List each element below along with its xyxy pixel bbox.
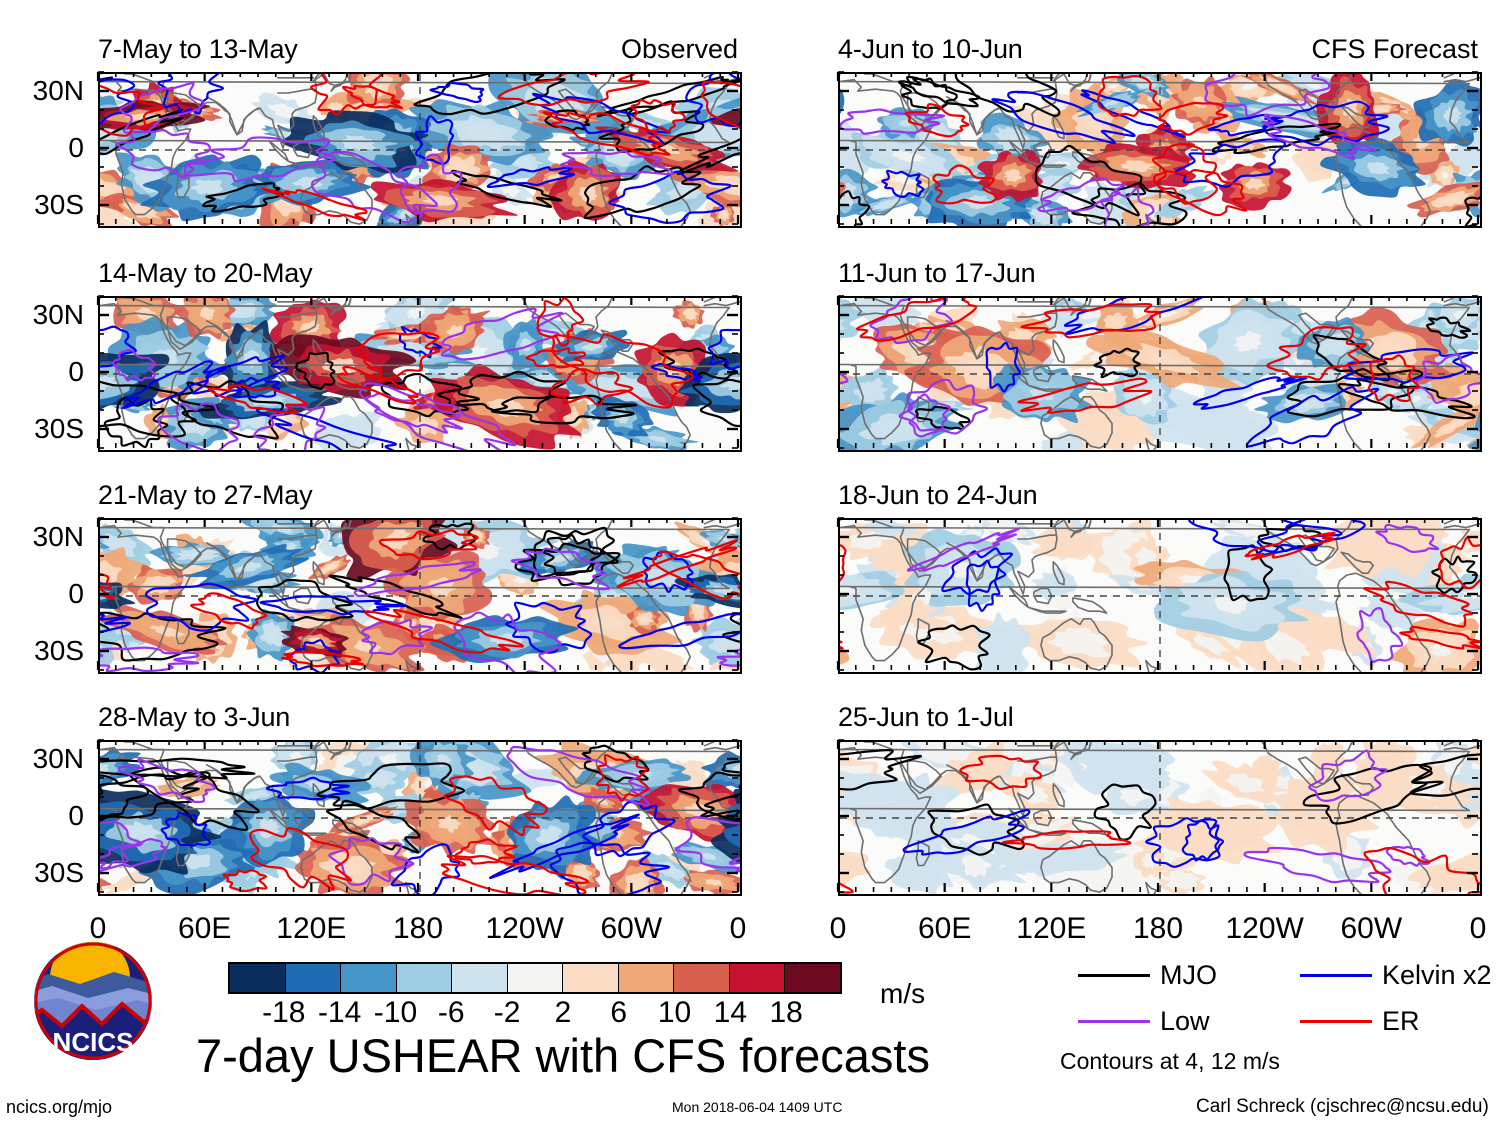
y-tick-label-30S: 30S (0, 859, 84, 887)
footer-timestamp: Mon 2018-06-04 1409 UTC (672, 1100, 842, 1114)
x-axis-right: 060E120E180120W60W0 (838, 914, 1478, 954)
y-tick-label-30S: 30S (0, 415, 84, 443)
kelvin-line-swatch (1300, 974, 1372, 977)
map-plot-p4[interactable] (98, 740, 742, 896)
colorbar-tick-9: 18 (769, 998, 802, 1028)
colorbar-swatch-10 (784, 964, 840, 992)
panel-title-p2: 14-May to 20-May (98, 260, 312, 287)
logo-label: NCICS (53, 1027, 134, 1057)
panel-p8: 25-Jun to 1-Jul (838, 706, 1478, 892)
y-tick-label-0: 0 (0, 134, 84, 162)
y-tick-label-0: 0 (0, 580, 84, 608)
y-tick-label-30N: 30N (0, 745, 84, 773)
y-tick-label-0: 0 (0, 358, 84, 386)
colorbar-tick-6: 6 (610, 998, 627, 1028)
colorbar: -18-14-10-6-226101418 (228, 962, 842, 994)
legend-item-mjo: MJO (1078, 962, 1217, 989)
y-tick-label-30S: 30S (0, 191, 84, 219)
x-tick-label-2: 120E (1016, 914, 1086, 944)
colorbar-tick-0: -18 (262, 998, 305, 1028)
contour-note: Contours at 4, 12 m/s (1060, 1050, 1280, 1073)
x-tick-label-2: 120E (276, 914, 346, 944)
x-tick-label-4: 120W (1225, 914, 1303, 944)
colorbar-swatch-1 (285, 964, 341, 992)
panel-title-p4: 28-May to 3-Jun (98, 704, 290, 731)
x-tick-label-5: 60W (600, 914, 662, 944)
footer-site-link[interactable]: ncics.org/mjo (6, 1098, 112, 1116)
panel-title-p7: 18-Jun to 24-Jun (838, 482, 1037, 509)
colorbar-swatch-5 (507, 964, 563, 992)
panel-p7: 18-Jun to 24-Jun (838, 484, 1478, 670)
colorbar-swatch-9 (729, 964, 785, 992)
legend-label-low: Low (1160, 1008, 1210, 1035)
y-tick-label-30N: 30N (0, 77, 84, 105)
x-axis-left: 060E120E180120W60W0 (98, 914, 738, 954)
colorbar-tick-1: -14 (318, 998, 361, 1028)
colorbar-tick-2: -10 (374, 998, 417, 1028)
legend-item-er: ER (1300, 1008, 1420, 1035)
panel-p3: 21-May to 27-May30N030S (98, 484, 738, 670)
panel-p6: 11-Jun to 17-Jun (838, 262, 1478, 448)
map-plot-p1[interactable] (98, 72, 742, 228)
legend-label-er: ER (1382, 1008, 1420, 1035)
figure-title: 7-day USHEAR with CFS forecasts (196, 1032, 930, 1079)
y-tick-label-30N: 30N (0, 301, 84, 329)
map-plot-p6[interactable] (838, 296, 1482, 452)
map-plot-p3[interactable] (98, 518, 742, 674)
colorbar-swatch-0 (230, 964, 285, 992)
panel-p2: 14-May to 20-May30N030S (98, 262, 738, 448)
legend-item-low: Low (1078, 1008, 1210, 1035)
colorbar-tick-8: 14 (714, 998, 747, 1028)
panel-column-header-right: CFS Forecast (1311, 36, 1478, 63)
map-plot-p2[interactable] (98, 296, 742, 452)
legend-item-kelvin: Kelvin x2 (1300, 962, 1492, 989)
y-tick-label-30S: 30S (0, 637, 84, 665)
colorbar-tick-5: 2 (555, 998, 572, 1028)
y-tick-label-30N: 30N (0, 523, 84, 551)
panel-title-p8: 25-Jun to 1-Jul (838, 704, 1014, 731)
map-plot-p7[interactable] (838, 518, 1482, 674)
panel-p1: 7-May to 13-MayObserved30N030S (98, 38, 738, 224)
panel-title-p1: 7-May to 13-May (98, 36, 298, 63)
x-tick-label-6: 0 (730, 914, 747, 944)
colorbar-swatch-3 (396, 964, 452, 992)
panel-p5: 4-Jun to 10-JunCFS Forecast (838, 38, 1478, 224)
legend-label-kelvin: Kelvin x2 (1382, 962, 1492, 989)
x-tick-label-4: 120W (485, 914, 563, 944)
colorbar-tick-4: -2 (494, 998, 521, 1028)
x-tick-label-1: 60E (918, 914, 971, 944)
x-tick-label-6: 0 (1470, 914, 1487, 944)
x-tick-label-1: 60E (178, 914, 231, 944)
colorbar-tick-3: -6 (438, 998, 465, 1028)
contour-legend: MJO Kelvin x2 Low ER Contours at 4, 12 m… (1078, 962, 1498, 1072)
footer-credit[interactable]: Carl Schreck (cjschrec@ncsu.edu) (1196, 1097, 1489, 1116)
y-tick-label-0: 0 (0, 802, 84, 830)
colorbar-strip (228, 962, 842, 994)
er-line-swatch (1300, 1020, 1372, 1023)
legend-label-mjo: MJO (1160, 962, 1217, 989)
map-plot-p8[interactable] (838, 740, 1482, 896)
panel-title-p6: 11-Jun to 17-Jun (838, 260, 1035, 287)
colorbar-swatch-8 (673, 964, 729, 992)
panel-title-p3: 21-May to 27-May (98, 482, 312, 509)
map-plot-p5[interactable] (838, 72, 1482, 228)
figure-root: 7-May to 13-MayObserved30N030S14-May to … (0, 0, 1510, 1137)
panel-p4: 28-May to 3-Jun30N030S (98, 706, 738, 892)
x-tick-label-5: 60W (1340, 914, 1402, 944)
colorbar-unit-label: m/s (880, 980, 925, 1008)
low-line-swatch (1078, 1020, 1150, 1023)
panel-title-p5: 4-Jun to 10-Jun (838, 36, 1023, 63)
colorbar-tick-7: 10 (658, 998, 691, 1028)
mjo-line-swatch (1078, 974, 1150, 977)
panel-column-header-left: Observed (621, 36, 738, 63)
colorbar-swatch-2 (340, 964, 396, 992)
colorbar-ticks: -18-14-10-6-226101418 (228, 994, 842, 1030)
colorbar-swatch-7 (618, 964, 674, 992)
x-tick-label-0: 0 (830, 914, 847, 944)
colorbar-swatch-6 (562, 964, 618, 992)
ncics-logo: NCICS (18, 940, 168, 1062)
x-tick-label-3: 180 (1133, 914, 1183, 944)
x-tick-label-3: 180 (393, 914, 443, 944)
colorbar-swatch-4 (451, 964, 507, 992)
